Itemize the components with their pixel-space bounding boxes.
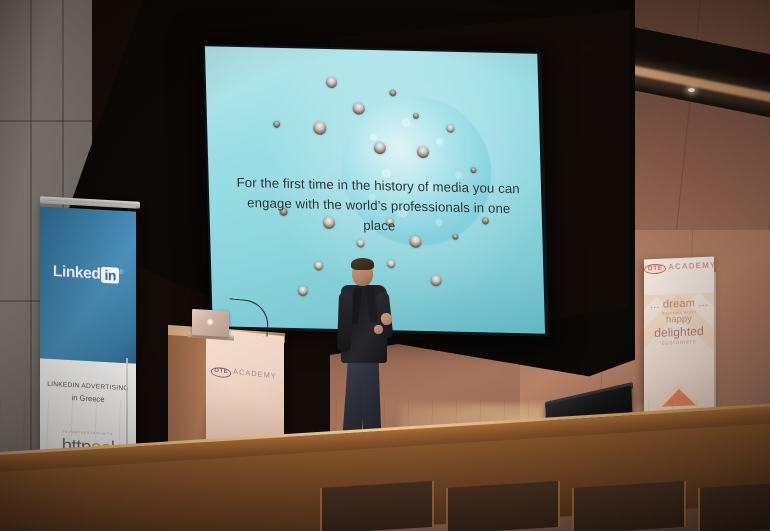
- conference-stage-photo: For the first time in the history of med…: [0, 0, 770, 531]
- slide-avatar: [353, 103, 365, 115]
- ote-academy-banner: OTEACADEMY ... dream ... business world …: [644, 257, 714, 418]
- speaker-left-arm: [337, 292, 353, 352]
- slide-avatar: [431, 275, 442, 286]
- ote-logo-word: ACADEMY: [668, 260, 714, 271]
- slide-avatar: [471, 167, 477, 173]
- ote-logo-mark: OTE: [644, 264, 666, 275]
- slide-avatar: [356, 240, 364, 248]
- slide-headline: For the first time in the history of med…: [232, 173, 526, 240]
- slide-avatar: [409, 236, 421, 248]
- podium-logo-mark: OTE: [211, 366, 231, 378]
- left-wall-seam-4: [0, 120, 92, 122]
- linkedin-banner-blue-panel: [40, 206, 136, 363]
- slide-avatar: [273, 121, 280, 128]
- linkedin-logo-badge: in: [101, 267, 119, 284]
- linkedin-logo-word: Linked: [53, 263, 101, 283]
- linkedin-logo-trademark: ®: [119, 270, 123, 276]
- slide-avatar: [387, 260, 395, 268]
- stage-front-panel: [698, 481, 770, 531]
- stage-front-panel: [320, 481, 434, 531]
- stage-front-panel: [572, 481, 686, 531]
- stage-front-panel: [446, 481, 560, 531]
- slide-headline-line-2: engage with the world’s professionals in…: [232, 193, 526, 240]
- ceiling-spot-light-4: [688, 88, 695, 92]
- speaker-hair: [351, 258, 374, 270]
- slide-avatar: [325, 77, 336, 88]
- slide-avatar: [389, 90, 396, 97]
- slide-avatar: [446, 124, 454, 132]
- slide-avatar: [313, 121, 326, 134]
- ote-academy-logo: OTEACADEMY: [644, 261, 714, 275]
- slide-avatar: [314, 261, 323, 270]
- apple-logo-icon: [207, 319, 213, 325]
- ote-banner-tagline: ... dream ... business world happy delig…: [644, 297, 714, 348]
- slide-avatar: [298, 286, 308, 296]
- ote-banner-support-pole: [714, 272, 716, 414]
- slide-avatar: [413, 113, 419, 119]
- speaker-left-hand: [374, 325, 383, 334]
